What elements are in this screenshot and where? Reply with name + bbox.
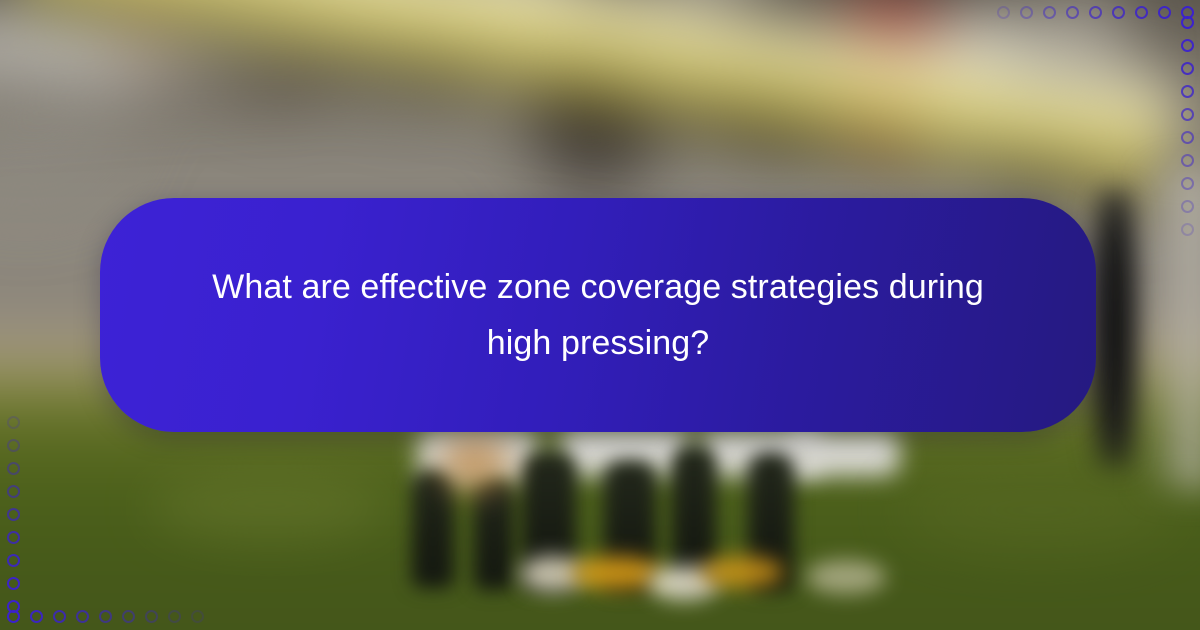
question-text: What are effective zone coverage strateg… (179, 259, 1017, 372)
decor-dot (1181, 62, 1194, 75)
background-yellow-banner (14, 0, 1182, 219)
decor-dot (7, 531, 20, 544)
dot-rail-top-right (987, 6, 1194, 19)
decor-dot (1043, 6, 1056, 19)
decor-dot (997, 6, 1010, 19)
decor-dot (1181, 177, 1194, 190)
dot-rail-bottom-left (7, 610, 214, 623)
decor-dot (1181, 85, 1194, 98)
decor-dot (1181, 154, 1194, 167)
decor-dot (7, 577, 20, 590)
decor-dot (7, 462, 20, 475)
decor-dot (122, 610, 135, 623)
decor-dot (7, 600, 20, 613)
decor-dot (7, 554, 20, 567)
decor-dot (1181, 131, 1194, 144)
decor-dot (1181, 39, 1194, 52)
decor-dot (99, 610, 112, 623)
dot-rail-left (7, 416, 20, 623)
decor-dot (7, 416, 20, 429)
question-card: What are effective zone coverage strateg… (100, 198, 1096, 432)
decor-dot (7, 485, 20, 498)
decor-dot (1020, 6, 1033, 19)
decor-dot (1158, 6, 1171, 19)
decor-dot (1181, 200, 1194, 213)
decor-dot (1112, 6, 1125, 19)
decor-dot (1089, 6, 1102, 19)
background-dark-post (1088, 190, 1142, 470)
decor-dot (1181, 16, 1194, 29)
decor-dot (7, 508, 20, 521)
decor-dot (168, 610, 181, 623)
decor-dot (7, 439, 20, 452)
decor-dot (191, 610, 204, 623)
decor-dot (145, 610, 158, 623)
decor-dot (53, 610, 66, 623)
decor-dot (30, 610, 43, 623)
decor-dot (76, 610, 89, 623)
question-card-graphic: What are effective zone coverage strateg… (0, 0, 1200, 630)
dot-rail-right (1181, 6, 1194, 236)
decor-dot (1181, 223, 1194, 236)
decor-dot (1066, 6, 1079, 19)
decor-dot (1181, 108, 1194, 121)
decor-dot (1135, 6, 1148, 19)
